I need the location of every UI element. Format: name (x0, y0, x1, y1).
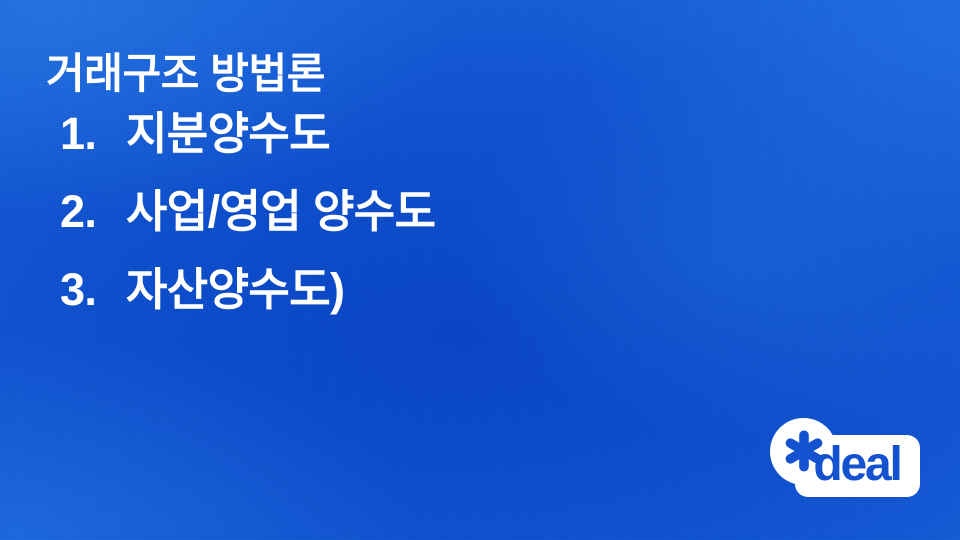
agenda-item-1-label: 지분양수도 (126, 111, 330, 156)
slide-content: 거래구조 방법론 1. 지분양수도 2. 사업/영업 양수도 3. 자산양수도) (46, 48, 746, 345)
agenda-item-3-label: 자산양수도) (126, 267, 344, 312)
agenda-list: 1. 지분양수도 2. 사업/영업 양수도 3. 자산양수도) (46, 111, 746, 312)
agenda-item-2-number: 2. (60, 189, 126, 234)
agenda-item-2-label: 사업/영업 양수도 (126, 189, 435, 234)
agenda-item-3: 3. 자산양수도) (46, 267, 746, 312)
agenda-item-2: 2. 사업/영업 양수도 (46, 189, 746, 234)
slide-title: 거래구조 방법론 (46, 48, 746, 99)
deal-logo: deal (768, 412, 926, 502)
logo-wordmark: deal (797, 436, 917, 496)
agenda-item-1-number: 1. (60, 111, 126, 156)
agenda-item-1: 1. 지분양수도 (46, 111, 746, 156)
agenda-item-3-number: 3. (60, 267, 126, 312)
presentation-slide: 거래구조 방법론 1. 지분양수도 2. 사업/영업 양수도 3. 자산양수도) (0, 0, 960, 540)
